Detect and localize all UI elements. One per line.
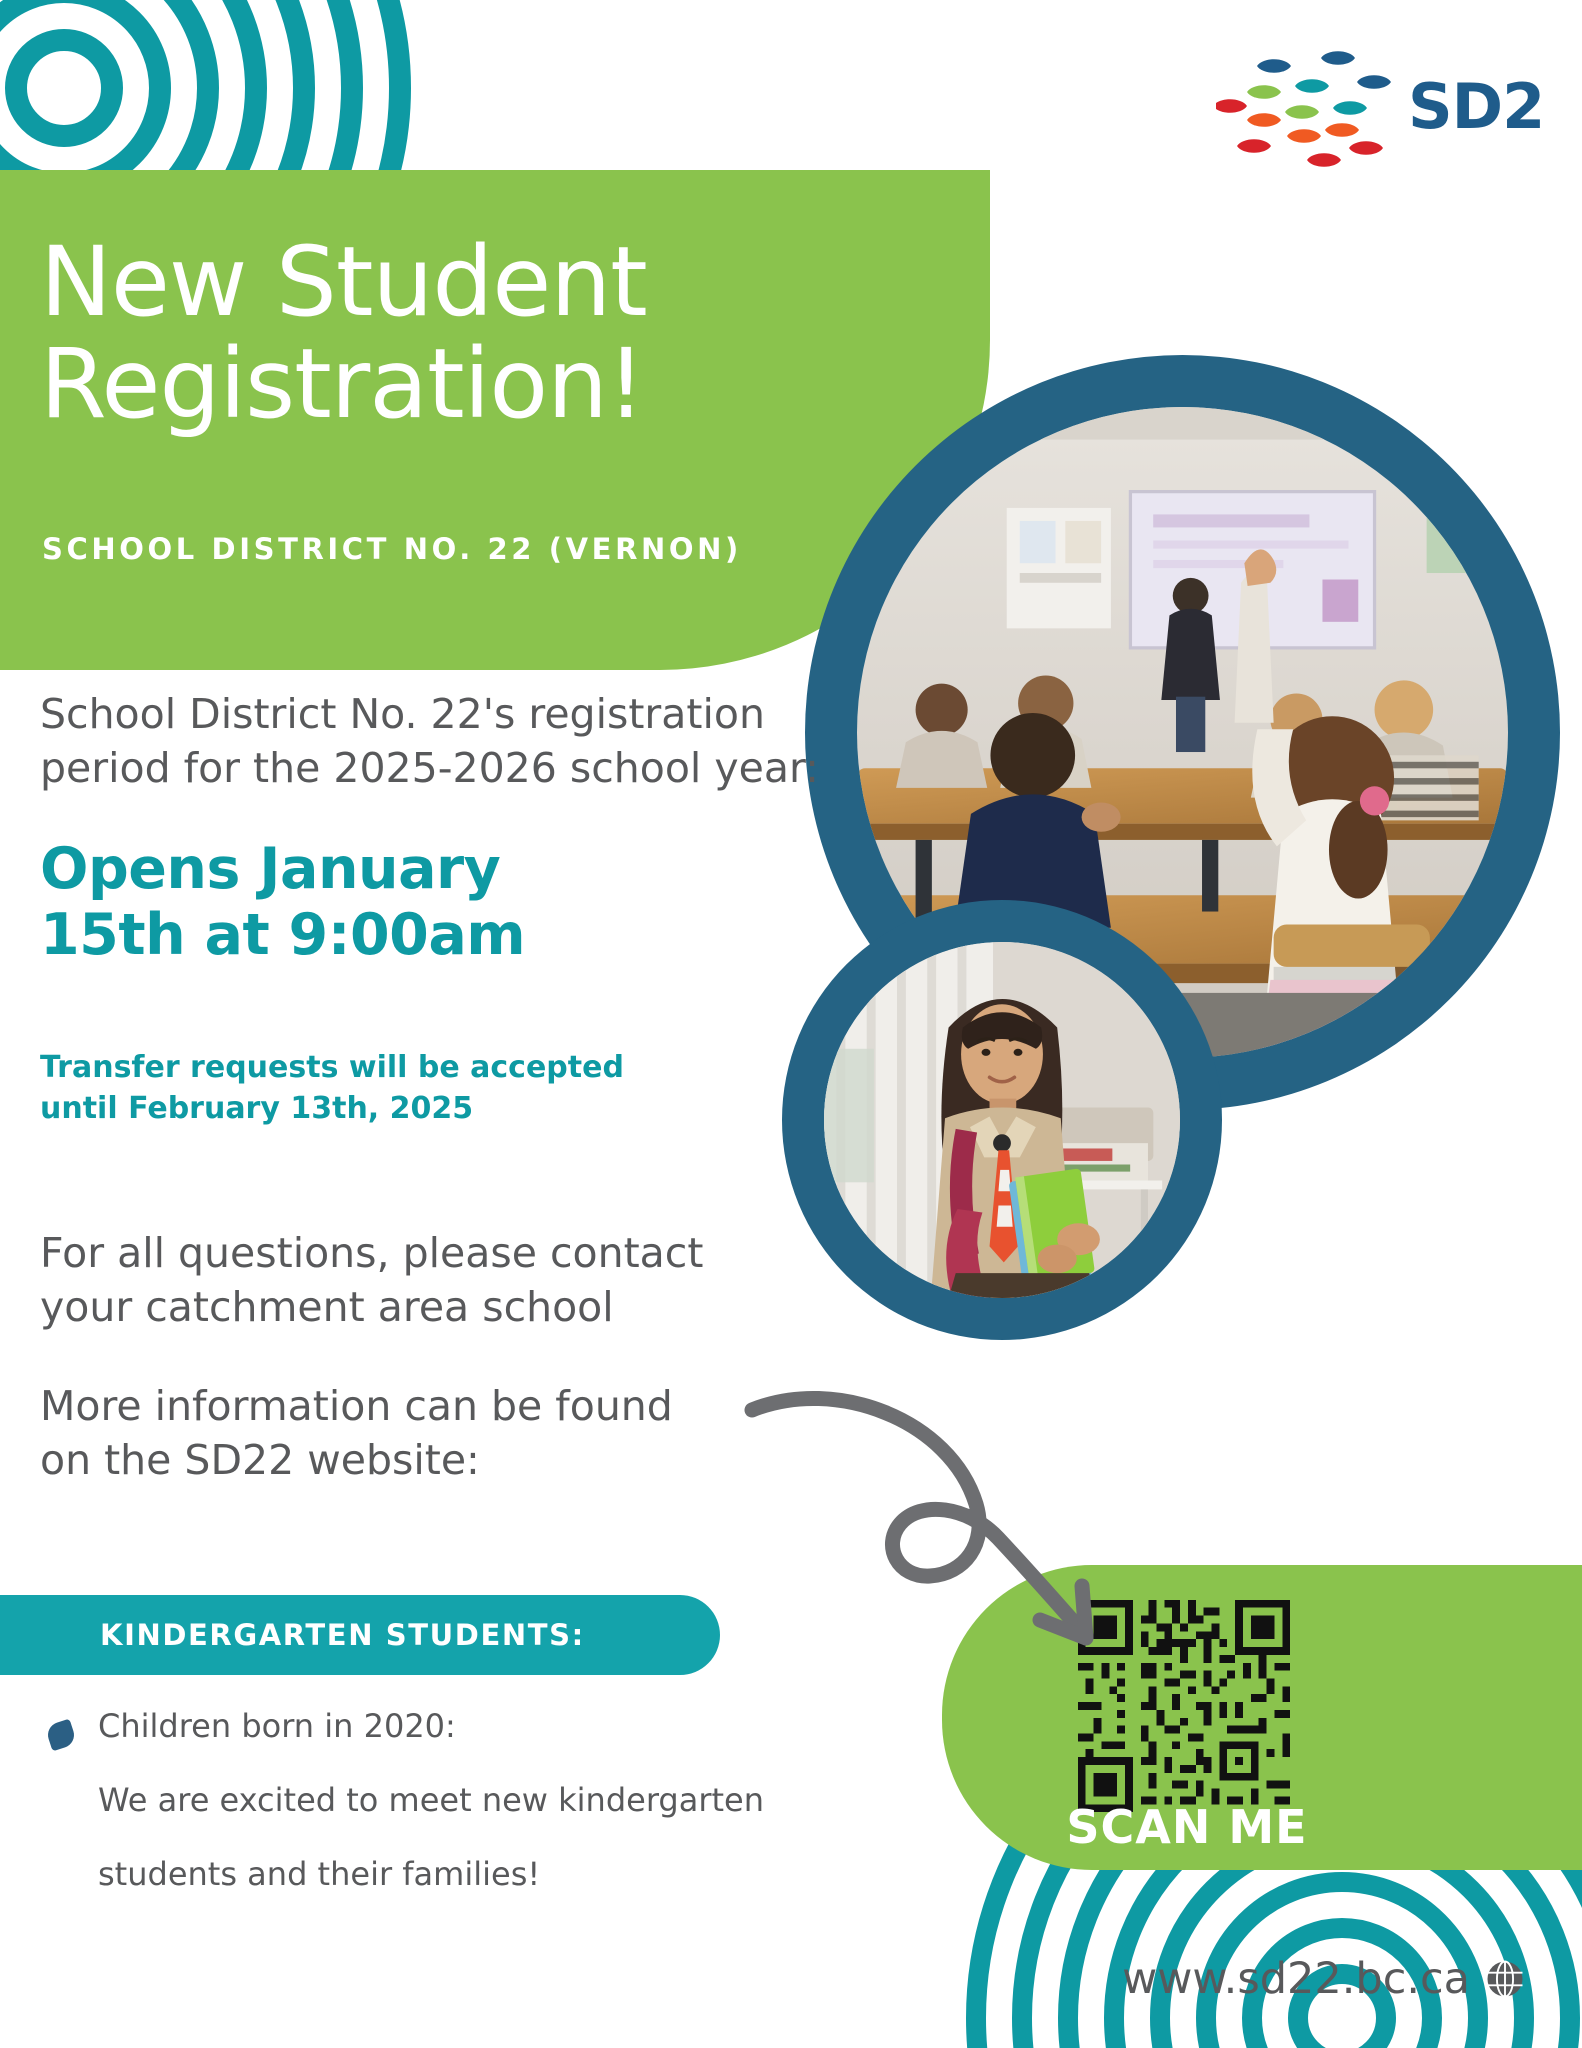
- opens-headline: Opens January 15th at 9:00am: [40, 836, 740, 968]
- kindergarten-line-1: Children born in 2020:: [98, 1710, 910, 1742]
- contact-paragraph: For all questions, please contact your c…: [40, 1226, 830, 1334]
- transfer-deadline-note: Transfer requests will be accepted until…: [40, 1048, 780, 1129]
- more-info-paragraph: More information can be found on the SD2…: [40, 1379, 830, 1487]
- curly-arrow-icon: [740, 1368, 1140, 1698]
- page-title-line1: New Student: [40, 232, 940, 334]
- page-title-line2: Registration!: [40, 334, 940, 436]
- contact-line-2: your catchment area school: [40, 1280, 830, 1334]
- transfer-line-1: Transfer requests will be accepted: [40, 1048, 780, 1089]
- intro-line-1: School District No. 22's registration: [40, 687, 860, 741]
- list-item: Children born in 2020: We are excited to…: [40, 1710, 910, 1890]
- opens-line-1: Opens January: [40, 836, 740, 902]
- sd22-dot-grid-logo: SD22: [1216, 30, 1546, 170]
- student-with-books-photo: [782, 900, 1222, 1340]
- kindergarten-list: Children born in 2020: We are excited to…: [40, 1710, 910, 1890]
- kindergarten-banner: KINDERGARTEN STUDENTS:: [0, 1595, 720, 1675]
- kindergarten-line-2: We are excited to meet new kindergarten: [98, 1784, 910, 1816]
- contact-line-1: For all questions, please contact: [40, 1226, 830, 1280]
- globe-icon: [1484, 1958, 1526, 2000]
- intro-paragraph: School District No. 22's registration pe…: [40, 687, 860, 795]
- website-url[interactable]: www.sd22.bc.ca: [1122, 1954, 1470, 2004]
- more-info-line-2: on the SD22 website:: [40, 1433, 830, 1487]
- kindergarten-line-3: students and their families!: [98, 1858, 910, 1890]
- intro-line-2: period for the 2025-2026 school year:: [40, 741, 860, 795]
- page-title: New Student Registration!: [40, 232, 940, 436]
- sd22-logo-text: SD22: [1408, 70, 1546, 143]
- more-info-line-1: More information can be found: [40, 1379, 830, 1433]
- page-subtitle: SCHOOL DISTRICT NO. 22 (VERNON): [42, 532, 742, 566]
- leaf-bullet-icon: [45, 1719, 78, 1752]
- poster: New Student Registration! SCHOOL DISTRIC…: [0, 0, 1582, 2048]
- opens-line-2: 15th at 9:00am: [40, 902, 740, 968]
- kindergarten-banner-label: KINDERGARTEN STUDENTS:: [100, 1618, 585, 1652]
- footer: www.sd22.bc.ca: [1122, 1954, 1526, 2004]
- scan-me-label: SCAN ME: [1022, 1800, 1352, 1854]
- transfer-line-2: until February 13th, 2025: [40, 1089, 780, 1130]
